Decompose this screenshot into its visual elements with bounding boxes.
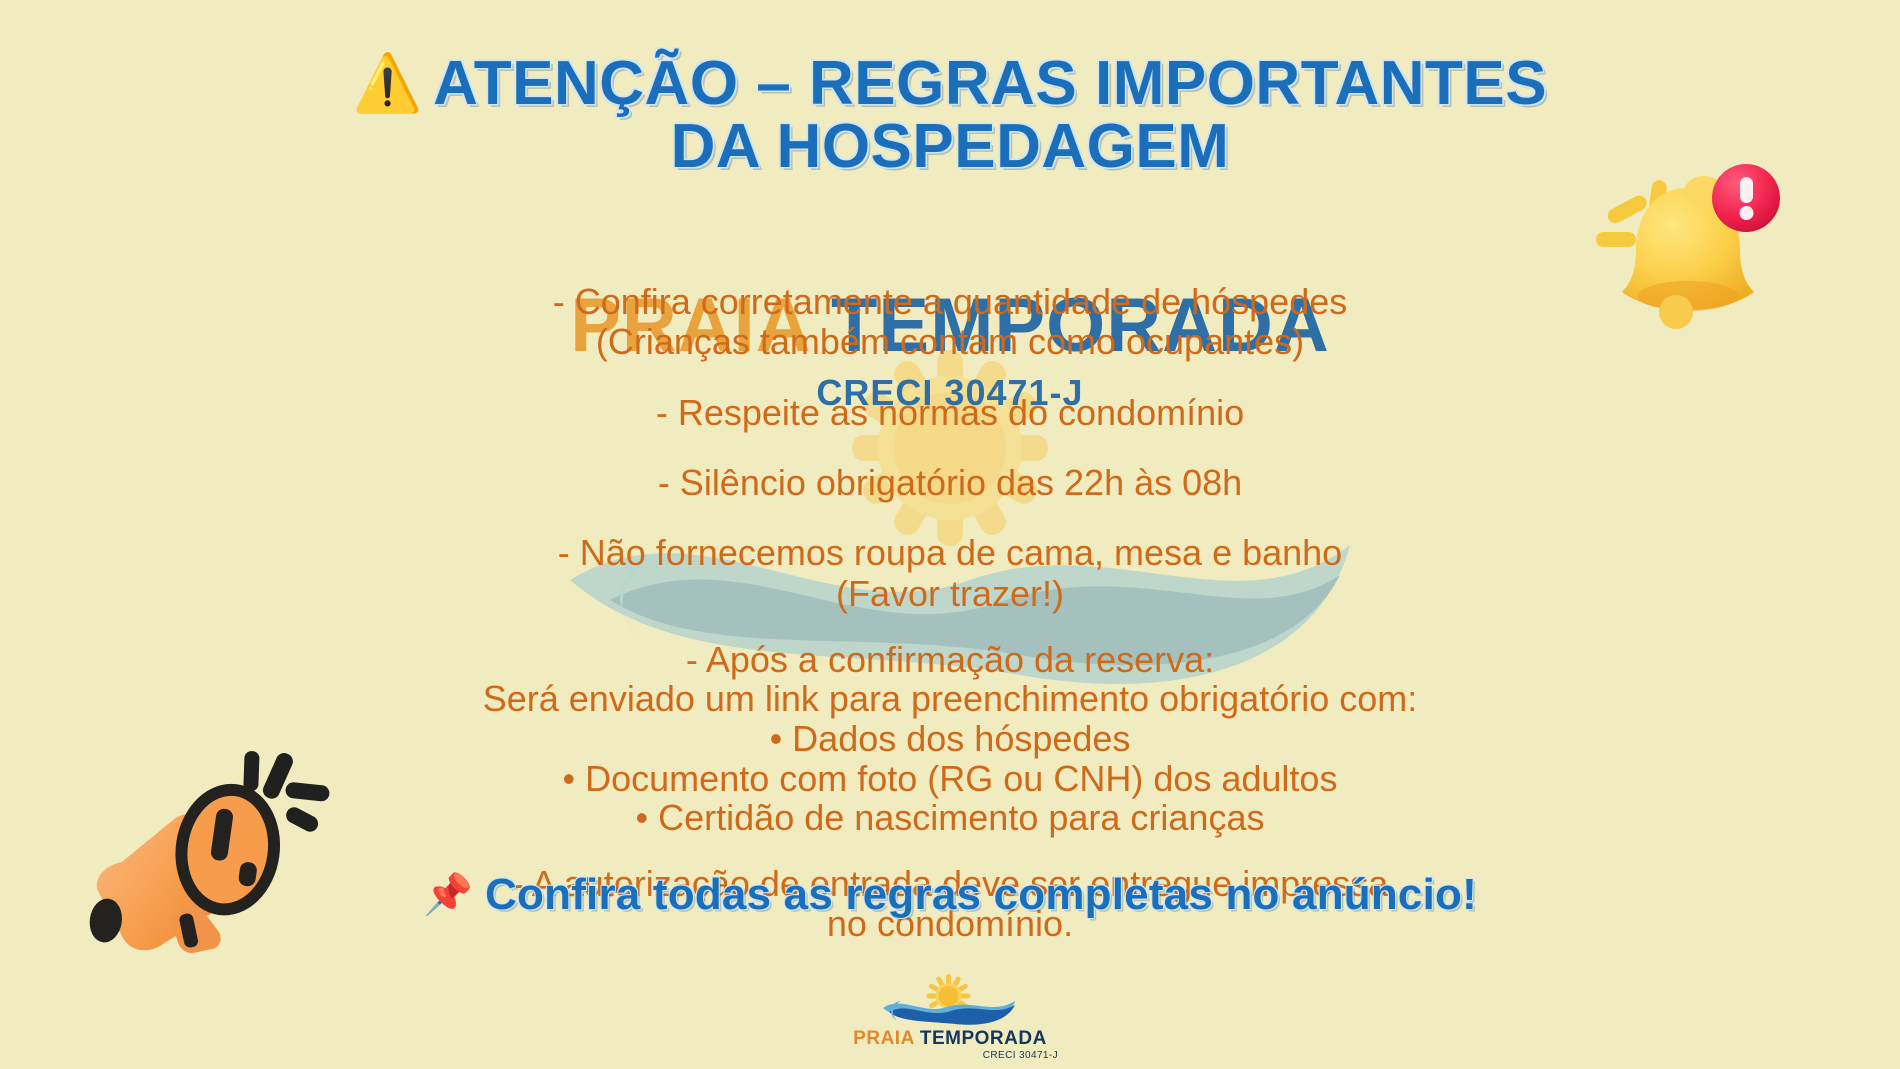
rule-guest-count: - Confira corretamente a quantidade de h… [0, 282, 1900, 363]
cta-text: Confira todas as regras completas no anú… [485, 870, 1477, 919]
poster-canvas: PRAIA TEMPORADA CRECI 30471-J [0, 0, 1900, 1069]
footer-brand-temporada: TEMPORADA [920, 1028, 1047, 1049]
footer-registration: CRECI 30471-J [830, 1050, 1070, 1061]
warning-triangle-icon: ⚠️ [353, 51, 423, 114]
pushpin-icon: 📌 [423, 873, 473, 917]
rule-no-linens: - Não fornecemos roupa de cama, mesa e b… [0, 533, 1900, 614]
title-line-1: ATENÇÃO – REGRAS IMPORTANTES [433, 49, 1547, 118]
rule-quiet-hours: - Silêncio obrigatório das 22h às 08h [0, 463, 1900, 503]
sun-wave-logo-icon [875, 974, 1025, 1028]
footer-brand-praia: PRAIA [853, 1028, 914, 1049]
rule-after-confirmation: - Após a confirmação da reserva: Será en… [0, 640, 1900, 838]
rule-condo-rules: - Respeite as normas do condomínio [0, 393, 1900, 433]
footer-brand-logo: PRAIA TEMPORADA CRECI 30471-J [830, 974, 1070, 1061]
title-line-2: DA HOSPEDAGEM [671, 112, 1230, 181]
cta-banner: 📌Confira todas as regras completas no an… [0, 870, 1900, 920]
poster-content: ⚠️ATENÇÃO – REGRAS IMPORTANTES DA HOSPED… [0, 0, 1900, 1069]
page-title: ⚠️ATENÇÃO – REGRAS IMPORTANTES DA HOSPED… [0, 52, 1900, 178]
